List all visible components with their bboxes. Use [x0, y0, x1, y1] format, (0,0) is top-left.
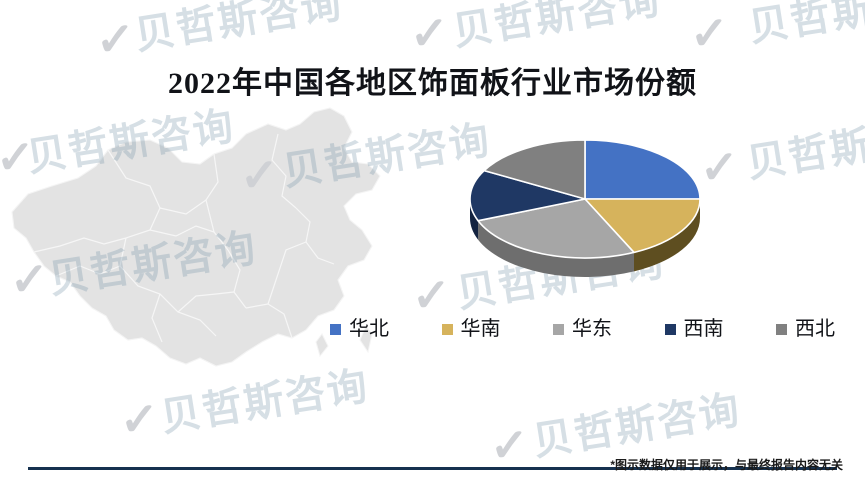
legend-label: 西南 — [684, 319, 724, 339]
legend-swatch-icon — [776, 324, 787, 335]
legend-label: 华东 — [572, 319, 612, 339]
legend-item-huanan[interactable]: 华南 — [442, 319, 501, 339]
slide-canvas: ✓ ✓ ✓ ✓ ✓ ✓ ✓ ✓ ✓ ✓ 贝哲斯咨询 贝哲斯咨询 贝哲斯咨询 贝哲… — [0, 0, 865, 487]
legend-swatch-icon — [665, 324, 676, 335]
watermark-check-icon: ✓ — [690, 6, 729, 60]
watermark-check-icon: ✓ — [410, 6, 449, 60]
legend-item-huabei[interactable]: 华北 — [330, 319, 389, 339]
watermark-check-icon: ✓ — [240, 148, 279, 202]
watermark-check-icon: ✓ — [120, 392, 159, 446]
watermark-check-icon: ✓ — [10, 252, 49, 306]
watermark-text: 贝哲斯咨询 — [528, 377, 744, 467]
legend-swatch-icon — [442, 324, 453, 335]
watermark-check-icon: ✓ — [412, 268, 451, 322]
china-map-background — [0, 90, 420, 390]
watermark-text: 贝哲斯咨询 — [744, 0, 865, 53]
legend-item-xinan[interactable]: 西南 — [665, 319, 724, 339]
watermark-text: 贝哲斯咨询 — [448, 0, 664, 57]
legend-swatch-icon — [553, 324, 564, 335]
chart-legend: 华北 华南 华东 西南 西北 — [330, 316, 835, 342]
watermark-text: 贝哲斯咨询 — [156, 353, 372, 443]
legend-label: 华北 — [349, 319, 389, 339]
legend-item-huadong[interactable]: 华东 — [553, 319, 612, 339]
legend-label: 华南 — [461, 319, 501, 339]
watermark-check-icon: ✓ — [0, 130, 35, 184]
watermark-text: 贝哲斯咨询 — [22, 93, 238, 183]
pie-chart — [455, 140, 720, 300]
legend-swatch-icon — [330, 324, 341, 335]
pie-slice-huabei[interactable] — [585, 140, 700, 199]
watermark-text: 贝哲斯咨询 — [742, 99, 865, 189]
watermark-text: 贝哲斯咨询 — [44, 215, 260, 305]
watermark-text: 贝哲斯咨询 — [130, 0, 346, 61]
legend-label: 西北 — [795, 319, 835, 339]
legend-item-xibei[interactable]: 西北 — [776, 319, 835, 339]
page-title: 2022年中国各地区饰面板行业市场份额 — [0, 58, 865, 102]
pie-top-faces — [470, 140, 700, 258]
footnote-text: *图示数据仅用于展示，与最终报告内容无关 — [610, 456, 843, 473]
watermark-check-icon: ✓ — [490, 418, 529, 472]
